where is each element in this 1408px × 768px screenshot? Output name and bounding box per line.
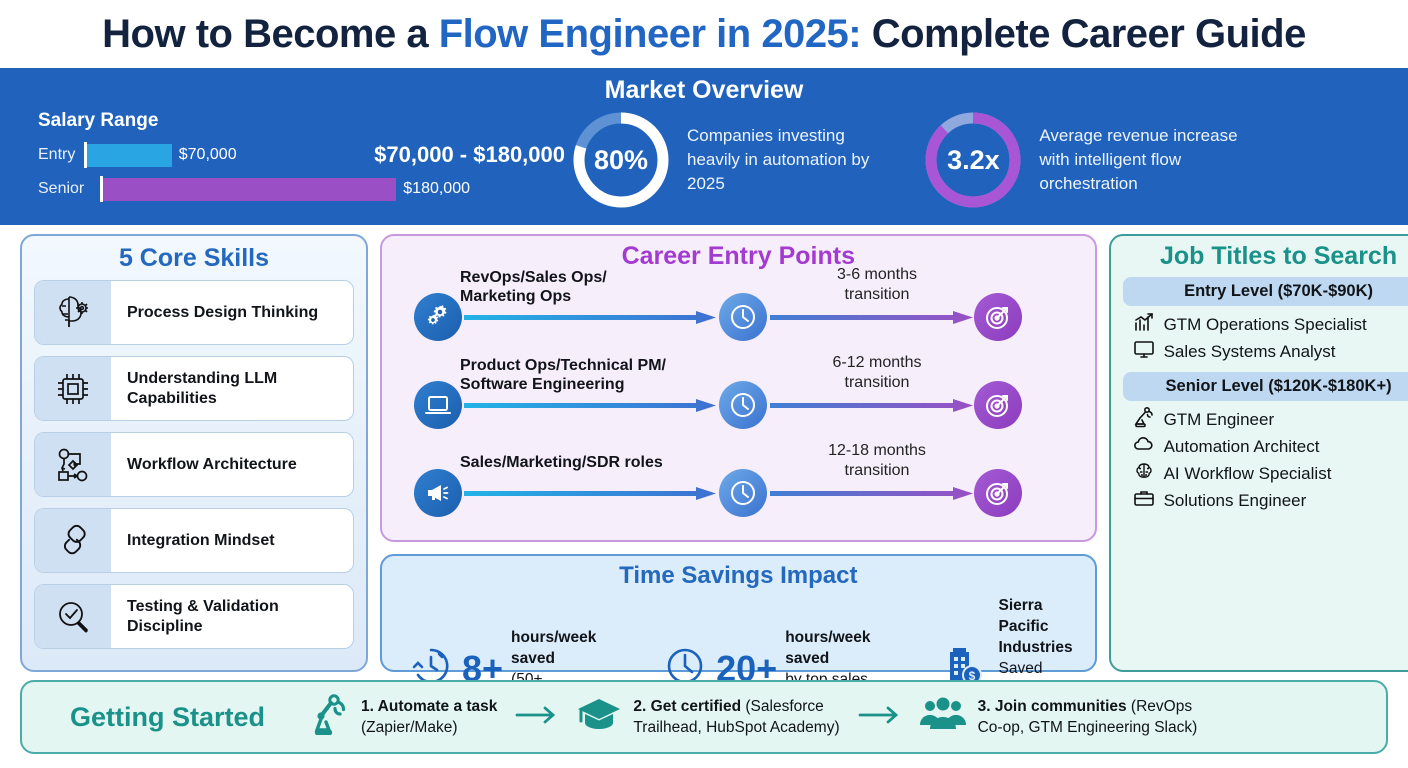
job-band-senior: Senior Level ($120K-$180K+) bbox=[1123, 372, 1408, 401]
getting-started-rest-2: (Salesforce bbox=[741, 698, 824, 715]
salary-row-senior: Senior $180,000 bbox=[38, 174, 565, 204]
job-item-sales-systems-analyst[interactable]: Sales Systems Analyst bbox=[1123, 338, 1408, 365]
getting-started-step-1: 1. Automate a task (Zapier/Make) bbox=[305, 692, 497, 743]
salary-range-big: $70,000 - $180,000 bbox=[374, 142, 565, 168]
core-skills-title: 5 Core Skills bbox=[34, 244, 354, 273]
skill-label-llm: Understanding LLM Capabilities bbox=[111, 357, 353, 420]
skill-label-testing: Testing & Validation Discipline bbox=[111, 585, 353, 648]
robot-arm-icon bbox=[305, 692, 351, 743]
laptop-icon bbox=[414, 381, 462, 429]
time-savings-title: Time Savings Impact bbox=[390, 561, 1087, 591]
clock-icon-3 bbox=[719, 469, 767, 517]
skill-card-integration[interactable]: Integration Mindset bbox=[34, 508, 354, 573]
title-part2: Complete Career Guide bbox=[861, 12, 1306, 56]
center-column: Career Entry Points RevOps/Sales Ops/ Ma… bbox=[380, 234, 1097, 672]
time-savings-line1-3: Sierra Pacific Industries bbox=[999, 595, 1073, 658]
getting-started-line2-2: Trailhead, HubSpot Academy) bbox=[633, 717, 839, 738]
job-label-automation-architect: Automation Architect bbox=[1164, 437, 1320, 457]
clock-icon-2 bbox=[719, 381, 767, 429]
title-part1: How to Become a bbox=[102, 12, 439, 56]
salary-value-entry: $70,000 bbox=[179, 146, 237, 164]
getting-started-rest-3: (RevOps bbox=[1127, 698, 1192, 715]
time-savings-panel: Time Savings Impact bbox=[380, 554, 1097, 672]
salary-range-title: Salary Range bbox=[38, 110, 565, 132]
skill-card-testing[interactable]: Testing & Validation Discipline bbox=[34, 584, 354, 649]
career-path-source-2: Product Ops/Technical PM/ Software Engin… bbox=[460, 356, 666, 394]
skill-card-workflow[interactable]: Workflow Architecture bbox=[34, 432, 354, 497]
monitor-icon bbox=[1133, 338, 1155, 365]
robot-arm-icon bbox=[1133, 406, 1155, 433]
job-titles-title: Job Titles to Search bbox=[1123, 242, 1408, 271]
target-icon-3 bbox=[974, 469, 1022, 517]
salary-range-block: Salary Range Entry $70,000 $70,000 - $18… bbox=[0, 108, 565, 208]
market-stat-revenue: 3.2x Average revenue increase with intel… bbox=[921, 108, 1237, 212]
salary-label-entry: Entry bbox=[38, 146, 84, 164]
market-overview-body: Salary Range Entry $70,000 $70,000 - $18… bbox=[0, 108, 1408, 225]
market-overview-title: Market Overview bbox=[0, 74, 1408, 106]
job-item-gtm-engineer[interactable]: GTM Engineer bbox=[1123, 406, 1408, 433]
link-icon bbox=[35, 509, 111, 572]
page-header: How to Become a Flow Engineer in 2025: C… bbox=[0, 0, 1408, 68]
market-stat-automation: 80% Companies investing heavily in autom… bbox=[569, 108, 869, 212]
megaphone-icon bbox=[414, 469, 462, 517]
getting-started-bold-2: 2. Get certified bbox=[633, 698, 741, 715]
magnifier-check-icon bbox=[35, 585, 111, 648]
brain-icon bbox=[1133, 460, 1155, 487]
gears-icon bbox=[414, 293, 462, 341]
donut-chart-80: 80% bbox=[569, 108, 673, 212]
job-label-sales-systems-analyst: Sales Systems Analyst bbox=[1164, 342, 1336, 362]
getting-started-bold-3: 3. Join communities bbox=[978, 698, 1127, 715]
career-path-source-1: RevOps/Sales Ops/ Marketing Ops bbox=[460, 268, 607, 306]
career-arrow-2b bbox=[770, 399, 973, 412]
career-path-source-3: Sales/Marketing/SDR roles bbox=[460, 453, 663, 472]
donut-value-32x: 3.2x bbox=[921, 108, 1025, 212]
chip-icon bbox=[35, 357, 111, 420]
salary-bar-track-entry: $70,000 bbox=[84, 142, 360, 168]
time-savings-line1-2: hours/week saved bbox=[785, 627, 870, 669]
donut-chart-32x: 3.2x bbox=[921, 108, 1025, 212]
page-title: How to Become a Flow Engineer in 2025: C… bbox=[102, 12, 1306, 57]
getting-started-text-1: 1. Automate a task (Zapier/Make) bbox=[361, 696, 497, 738]
job-item-ai-workflow-specialist[interactable]: AI Workflow Specialist bbox=[1123, 460, 1408, 487]
job-item-gtm-ops-specialist[interactable]: GTM Operations Specialist bbox=[1123, 311, 1408, 338]
infographic-page: How to Become a Flow Engineer in 2025: C… bbox=[0, 0, 1408, 768]
title-accent: Flow Engineer in 2025: bbox=[439, 12, 861, 56]
getting-started-step-3: 3. Join communities (RevOps Co-op, GTM E… bbox=[918, 695, 1198, 740]
career-arrow-1a bbox=[464, 311, 716, 324]
career-arrow-1b bbox=[770, 311, 973, 324]
getting-started-bold-1: 1. Automate a task bbox=[361, 698, 497, 715]
salary-row-entry: Entry $70,000 $70,000 - $180,000 bbox=[38, 140, 565, 170]
briefcase-icon bbox=[1133, 487, 1155, 514]
career-path-transition-1: 3-6 months transition bbox=[777, 265, 977, 305]
cloud-icon bbox=[1133, 433, 1155, 460]
market-stat-text-revenue: Average revenue increase with intelligen… bbox=[1039, 108, 1237, 196]
skill-label-workflow: Workflow Architecture bbox=[111, 433, 307, 496]
career-arrow-2a bbox=[464, 399, 716, 412]
getting-started-title: Getting Started bbox=[70, 702, 265, 733]
career-path-transition-2: 6-12 months transition bbox=[777, 353, 977, 393]
career-entry-points-panel: Career Entry Points RevOps/Sales Ops/ Ma… bbox=[380, 234, 1097, 542]
career-entry-points-title: Career Entry Points bbox=[392, 242, 1085, 271]
job-label-gtm-engineer: GTM Engineer bbox=[1164, 410, 1275, 430]
job-item-automation-architect[interactable]: Automation Architect bbox=[1123, 433, 1408, 460]
target-icon-1 bbox=[974, 293, 1022, 341]
arrow-right-icon-2 bbox=[856, 704, 902, 731]
time-savings-line1-1: hours/week saved bbox=[511, 627, 616, 669]
job-label-gtm-ops-specialist: GTM Operations Specialist bbox=[1164, 315, 1367, 335]
job-item-solutions-engineer[interactable]: Solutions Engineer bbox=[1123, 487, 1408, 514]
skill-card-llm[interactable]: Understanding LLM Capabilities bbox=[34, 356, 354, 421]
clock-icon-1 bbox=[719, 293, 767, 341]
job-band-entry: Entry Level ($70K-$90K) bbox=[1123, 277, 1408, 306]
donut-value-80: 80% bbox=[569, 108, 673, 212]
market-overview-band: Market Overview Salary Range Entry $70,0… bbox=[0, 68, 1408, 225]
career-arrow-3b bbox=[770, 487, 973, 500]
salary-value-senior: $180,000 bbox=[403, 180, 470, 198]
main-content: 5 Core Skills Process Design Thinking bbox=[0, 228, 1408, 672]
brain-gear-icon bbox=[35, 281, 111, 344]
target-icon-2 bbox=[974, 381, 1022, 429]
salary-label-senior: Senior bbox=[38, 180, 100, 198]
career-arrow-3a bbox=[464, 487, 716, 500]
graduation-icon bbox=[575, 693, 623, 742]
salary-bar-senior bbox=[103, 178, 396, 201]
skill-label-integration: Integration Mindset bbox=[111, 509, 285, 572]
workflow-icon bbox=[35, 433, 111, 496]
jobs-spacer bbox=[1123, 365, 1408, 372]
career-path-transition-3: 12-18 months transition bbox=[777, 441, 977, 481]
arrow-right-icon-1 bbox=[513, 704, 559, 731]
chart-growth-icon bbox=[1133, 311, 1155, 338]
skill-label-process-design: Process Design Thinking bbox=[111, 281, 328, 344]
career-path-row-3: Sales/Marketing/SDR roles 12-18 months t… bbox=[392, 449, 1085, 537]
getting-started-line2-3: Co-op, GTM Engineering Slack) bbox=[978, 717, 1198, 738]
getting-started-text-3: 3. Join communities (RevOps Co-op, GTM E… bbox=[978, 696, 1198, 738]
salary-bar-track-senior: $180,000 bbox=[100, 176, 470, 202]
job-label-solutions-engineer: Solutions Engineer bbox=[1164, 491, 1307, 511]
getting-started-step-2: 2. Get certified (Salesforce Trailhead, … bbox=[575, 693, 839, 742]
core-skills-panel: 5 Core Skills Process Design Thinking bbox=[20, 234, 368, 672]
career-path-row-1: RevOps/Sales Ops/ Marketing Ops 3-6 mont… bbox=[392, 273, 1085, 361]
people-icon bbox=[918, 695, 968, 740]
skill-card-process-design[interactable]: Process Design Thinking bbox=[34, 280, 354, 345]
career-path-row-2: Product Ops/Technical PM/ Software Engin… bbox=[392, 361, 1085, 449]
job-label-ai-workflow-specialist: AI Workflow Specialist bbox=[1164, 464, 1332, 484]
getting-started-line2-1: (Zapier/Make) bbox=[361, 717, 497, 738]
market-stat-text-automation: Companies investing heavily in automatio… bbox=[687, 108, 869, 196]
job-titles-panel: Job Titles to Search Entry Level ($70K-$… bbox=[1109, 234, 1408, 672]
salary-bar-entry bbox=[87, 144, 172, 167]
getting-started-text-2: 2. Get certified (Salesforce Trailhead, … bbox=[633, 696, 839, 738]
getting-started-bar: Getting Started 1. Automate a task (Zapi… bbox=[20, 680, 1388, 754]
